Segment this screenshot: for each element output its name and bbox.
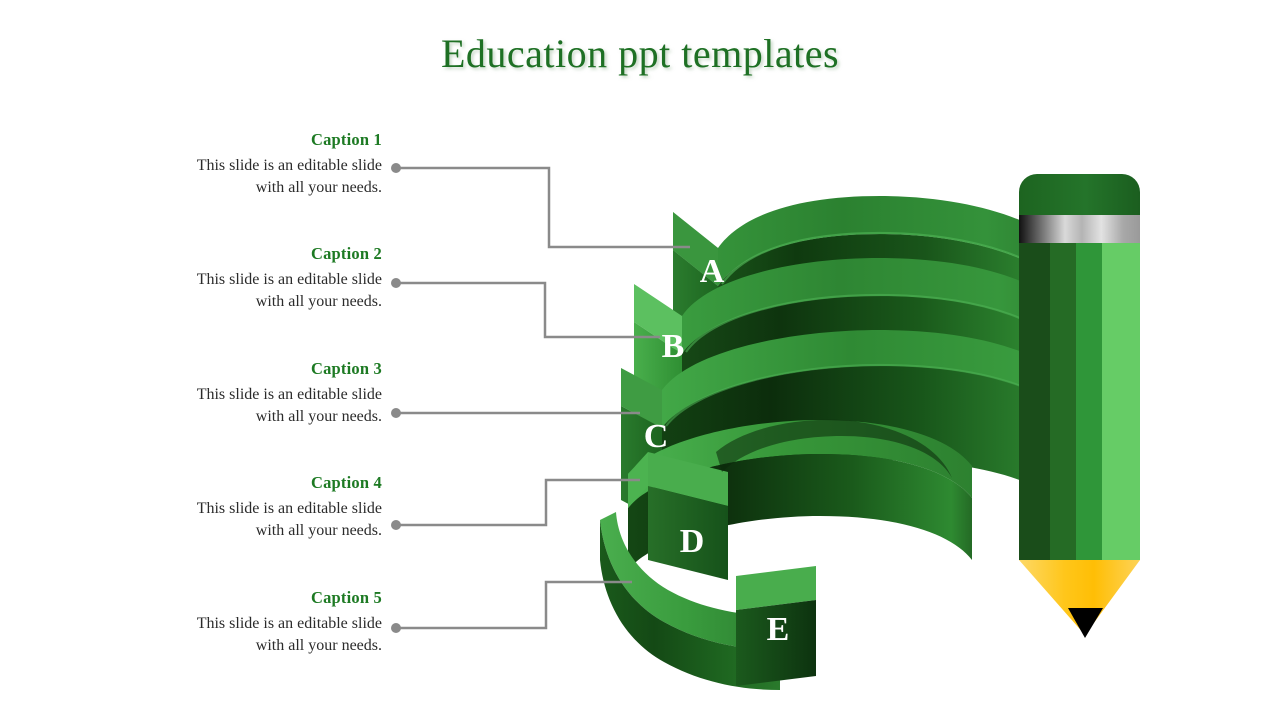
pencil-stripe-2 <box>1050 243 1076 560</box>
education-arc-diagram: A B C D <box>0 0 1280 720</box>
arc-b-letter: B <box>662 328 685 365</box>
pencil-ferrule <box>1019 215 1140 243</box>
pencil-stripe-4 <box>1102 243 1140 560</box>
pencil-stripe-3 <box>1076 243 1102 560</box>
slide-canvas: Education ppt templates Caption 1 This s… <box>0 0 1280 720</box>
arc-a-letter: A <box>700 253 725 290</box>
pencil-graphite-point <box>1068 608 1103 638</box>
pencil-graphic[interactable] <box>1019 174 1140 638</box>
pencil-eraser <box>1019 174 1140 215</box>
arc-d-letter: D <box>680 523 705 560</box>
pencil-stripe-1 <box>1019 243 1050 560</box>
arc-e-letter: E <box>767 611 790 648</box>
